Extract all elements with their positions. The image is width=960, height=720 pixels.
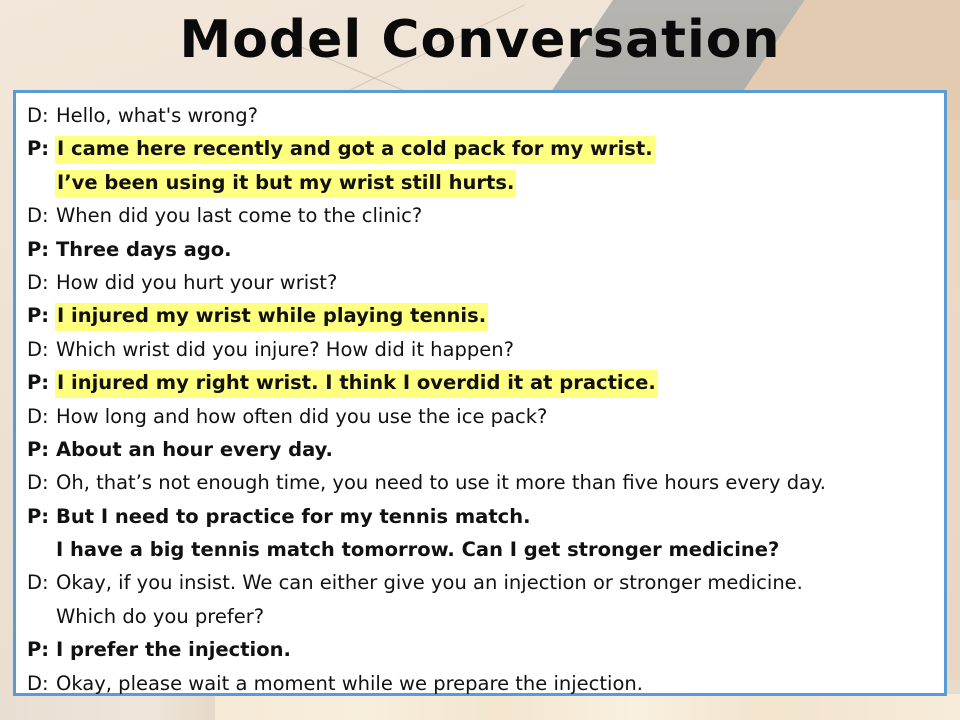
conversation-line: P:About an hour every day. — [27, 433, 936, 466]
conversation-line: P:I injured my wrist while playing tenni… — [27, 299, 936, 332]
speaker-label: P: — [27, 233, 55, 266]
conversation-line: P:Three days ago. — [27, 233, 936, 266]
speaker-label: P: — [27, 366, 55, 399]
utterance-text: Okay, please wait a moment while we prep… — [55, 667, 644, 700]
conversation-line: D:How long and how often did you use the… — [27, 400, 936, 433]
conversation-line: D:Oh, that’s not enough time, you need t… — [27, 466, 936, 499]
conversation-line: P:I’ve been using it but my wrist still … — [27, 166, 936, 199]
conversation-line: P:I have a big tennis match tomorrow. Ca… — [27, 533, 936, 566]
utterance-text: I injured my right wrist. I think I over… — [55, 370, 658, 397]
conversation-line: D:When did you last come to the clinic? — [27, 199, 936, 232]
speaker-label: P: — [27, 633, 55, 666]
conversation-line: D:How did you hurt your wrist? — [27, 266, 936, 299]
speaker-label: D: — [27, 199, 55, 232]
utterance-text: I came here recently and got a cold pack… — [55, 136, 655, 163]
conversation-line: D:Okay, if you insist. We can either giv… — [27, 566, 936, 599]
conversation-lines: D:Hello, what's wrong?P:I came here rece… — [27, 99, 936, 700]
speaker-label: P: — [27, 299, 55, 332]
utterance-text: How long and how often did you use the i… — [55, 400, 548, 433]
utterance-text: I’ve been using it but my wrist still hu… — [55, 170, 516, 197]
utterance-text: Hello, what's wrong? — [55, 99, 259, 132]
speaker-label: D: — [27, 400, 55, 433]
conversation-line: P:I injured my right wrist. I think I ov… — [27, 366, 936, 399]
speaker-label: D: — [27, 667, 55, 700]
speaker-label: P: — [27, 500, 55, 533]
conversation-panel: D:Hello, what's wrong?P:I came here rece… — [13, 90, 947, 696]
conversation-line: P:I prefer the injection. — [27, 633, 936, 666]
speaker-label: D: — [27, 99, 55, 132]
slide: Model Conversation D:Hello, what's wrong… — [0, 0, 960, 720]
utterance-text: I injured my wrist while playing tennis. — [55, 303, 488, 330]
utterance-text: Which wrist did you injure? How did it h… — [55, 333, 515, 366]
utterance-text: I prefer the injection. — [55, 633, 292, 666]
speaker-label: D: — [27, 266, 55, 299]
utterance-text: How did you hurt your wrist? — [55, 266, 338, 299]
conversation-line: D:Which wrist did you injure? How did it… — [27, 333, 936, 366]
utterance-text: About an hour every day. — [55, 433, 334, 466]
utterance-text: Oh, that’s not enough time, you need to … — [55, 466, 827, 499]
utterance-text: Which do you prefer? — [55, 600, 265, 633]
speaker-label: P: — [27, 132, 55, 165]
speaker-label: D: — [27, 566, 55, 599]
conversation-line: P:I came here recently and got a cold pa… — [27, 132, 936, 165]
speaker-label: D: — [27, 333, 55, 366]
utterance-text: I have a big tennis match tomorrow. Can … — [55, 533, 780, 566]
utterance-text: Okay, if you insist. We can either give … — [55, 566, 804, 599]
conversation-line: P:But I need to practice for my tennis m… — [27, 500, 936, 533]
conversation-line: D:Okay, please wait a moment while we pr… — [27, 667, 936, 700]
utterance-text: When did you last come to the clinic? — [55, 199, 423, 232]
utterance-text: Three days ago. — [55, 233, 233, 266]
page-title: Model Conversation — [0, 4, 960, 76]
speaker-label: D: — [27, 466, 55, 499]
utterance-text: But I need to practice for my tennis mat… — [55, 500, 532, 533]
conversation-line: D:Which do you prefer? — [27, 600, 936, 633]
conversation-line: D:Hello, what's wrong? — [27, 99, 936, 132]
speaker-label: P: — [27, 433, 55, 466]
